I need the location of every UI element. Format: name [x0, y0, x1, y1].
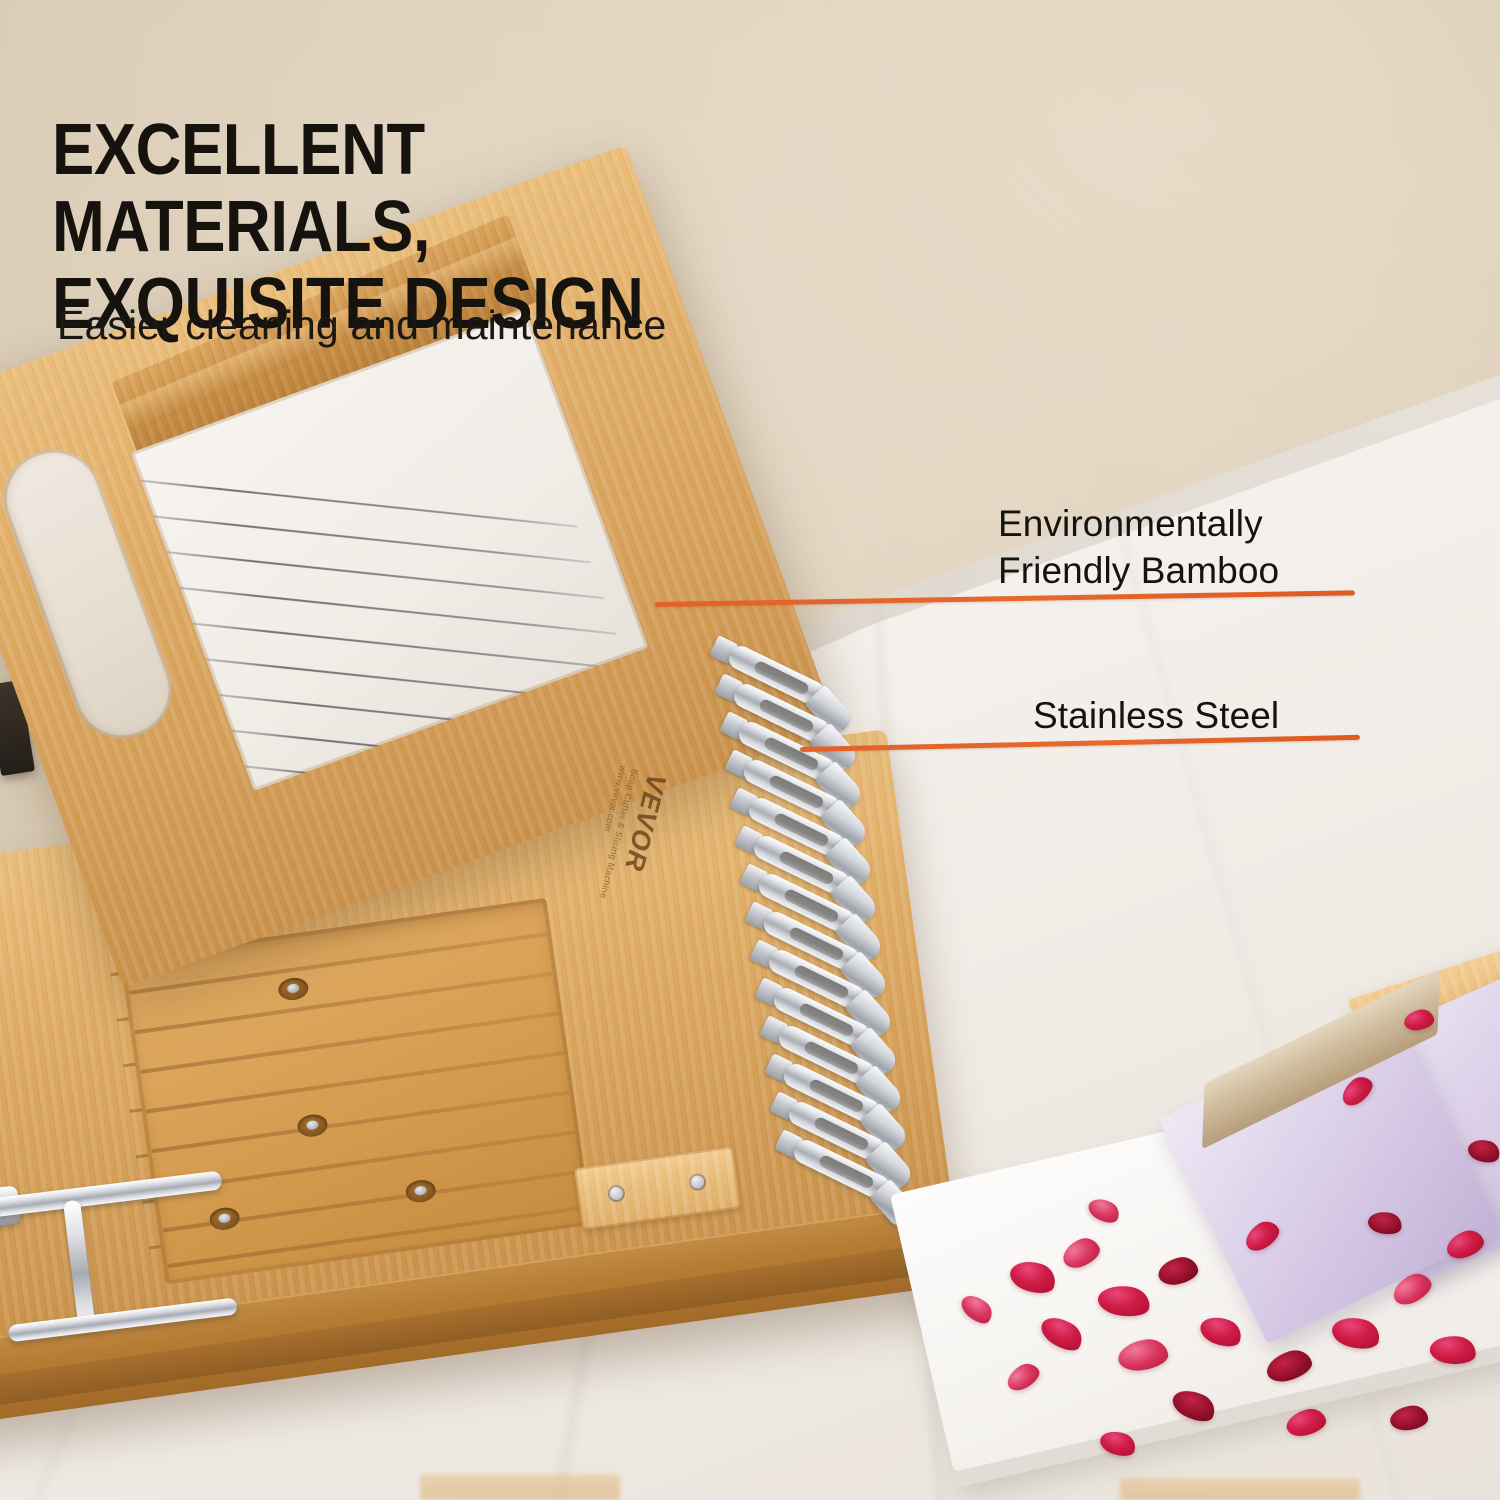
stainless-blade-clip-array	[700, 620, 950, 1200]
callout-label-bamboo: Environmentally Friendly Bamboo	[998, 500, 1279, 595]
handle-rod-top	[0, 1170, 223, 1218]
handle-rod-vertical	[63, 1200, 95, 1329]
screw-hole	[404, 1178, 437, 1204]
product-marketing-image: VEVOR Soap Cutter & Slicing Machine www.…	[0, 0, 1500, 1500]
bottom-bamboo-hint-left	[420, 1474, 620, 1500]
callout-label-steel: Stainless Steel	[1033, 692, 1279, 739]
wire-cutter-handle	[0, 1142, 290, 1367]
cleat-screw	[607, 1184, 626, 1203]
handle-rod-bottom	[8, 1297, 238, 1342]
page-subtitle: Easier cleaning and maintenance	[57, 302, 666, 349]
bottom-bamboo-hint-right	[1120, 1478, 1360, 1500]
screw-hole	[296, 1113, 329, 1139]
